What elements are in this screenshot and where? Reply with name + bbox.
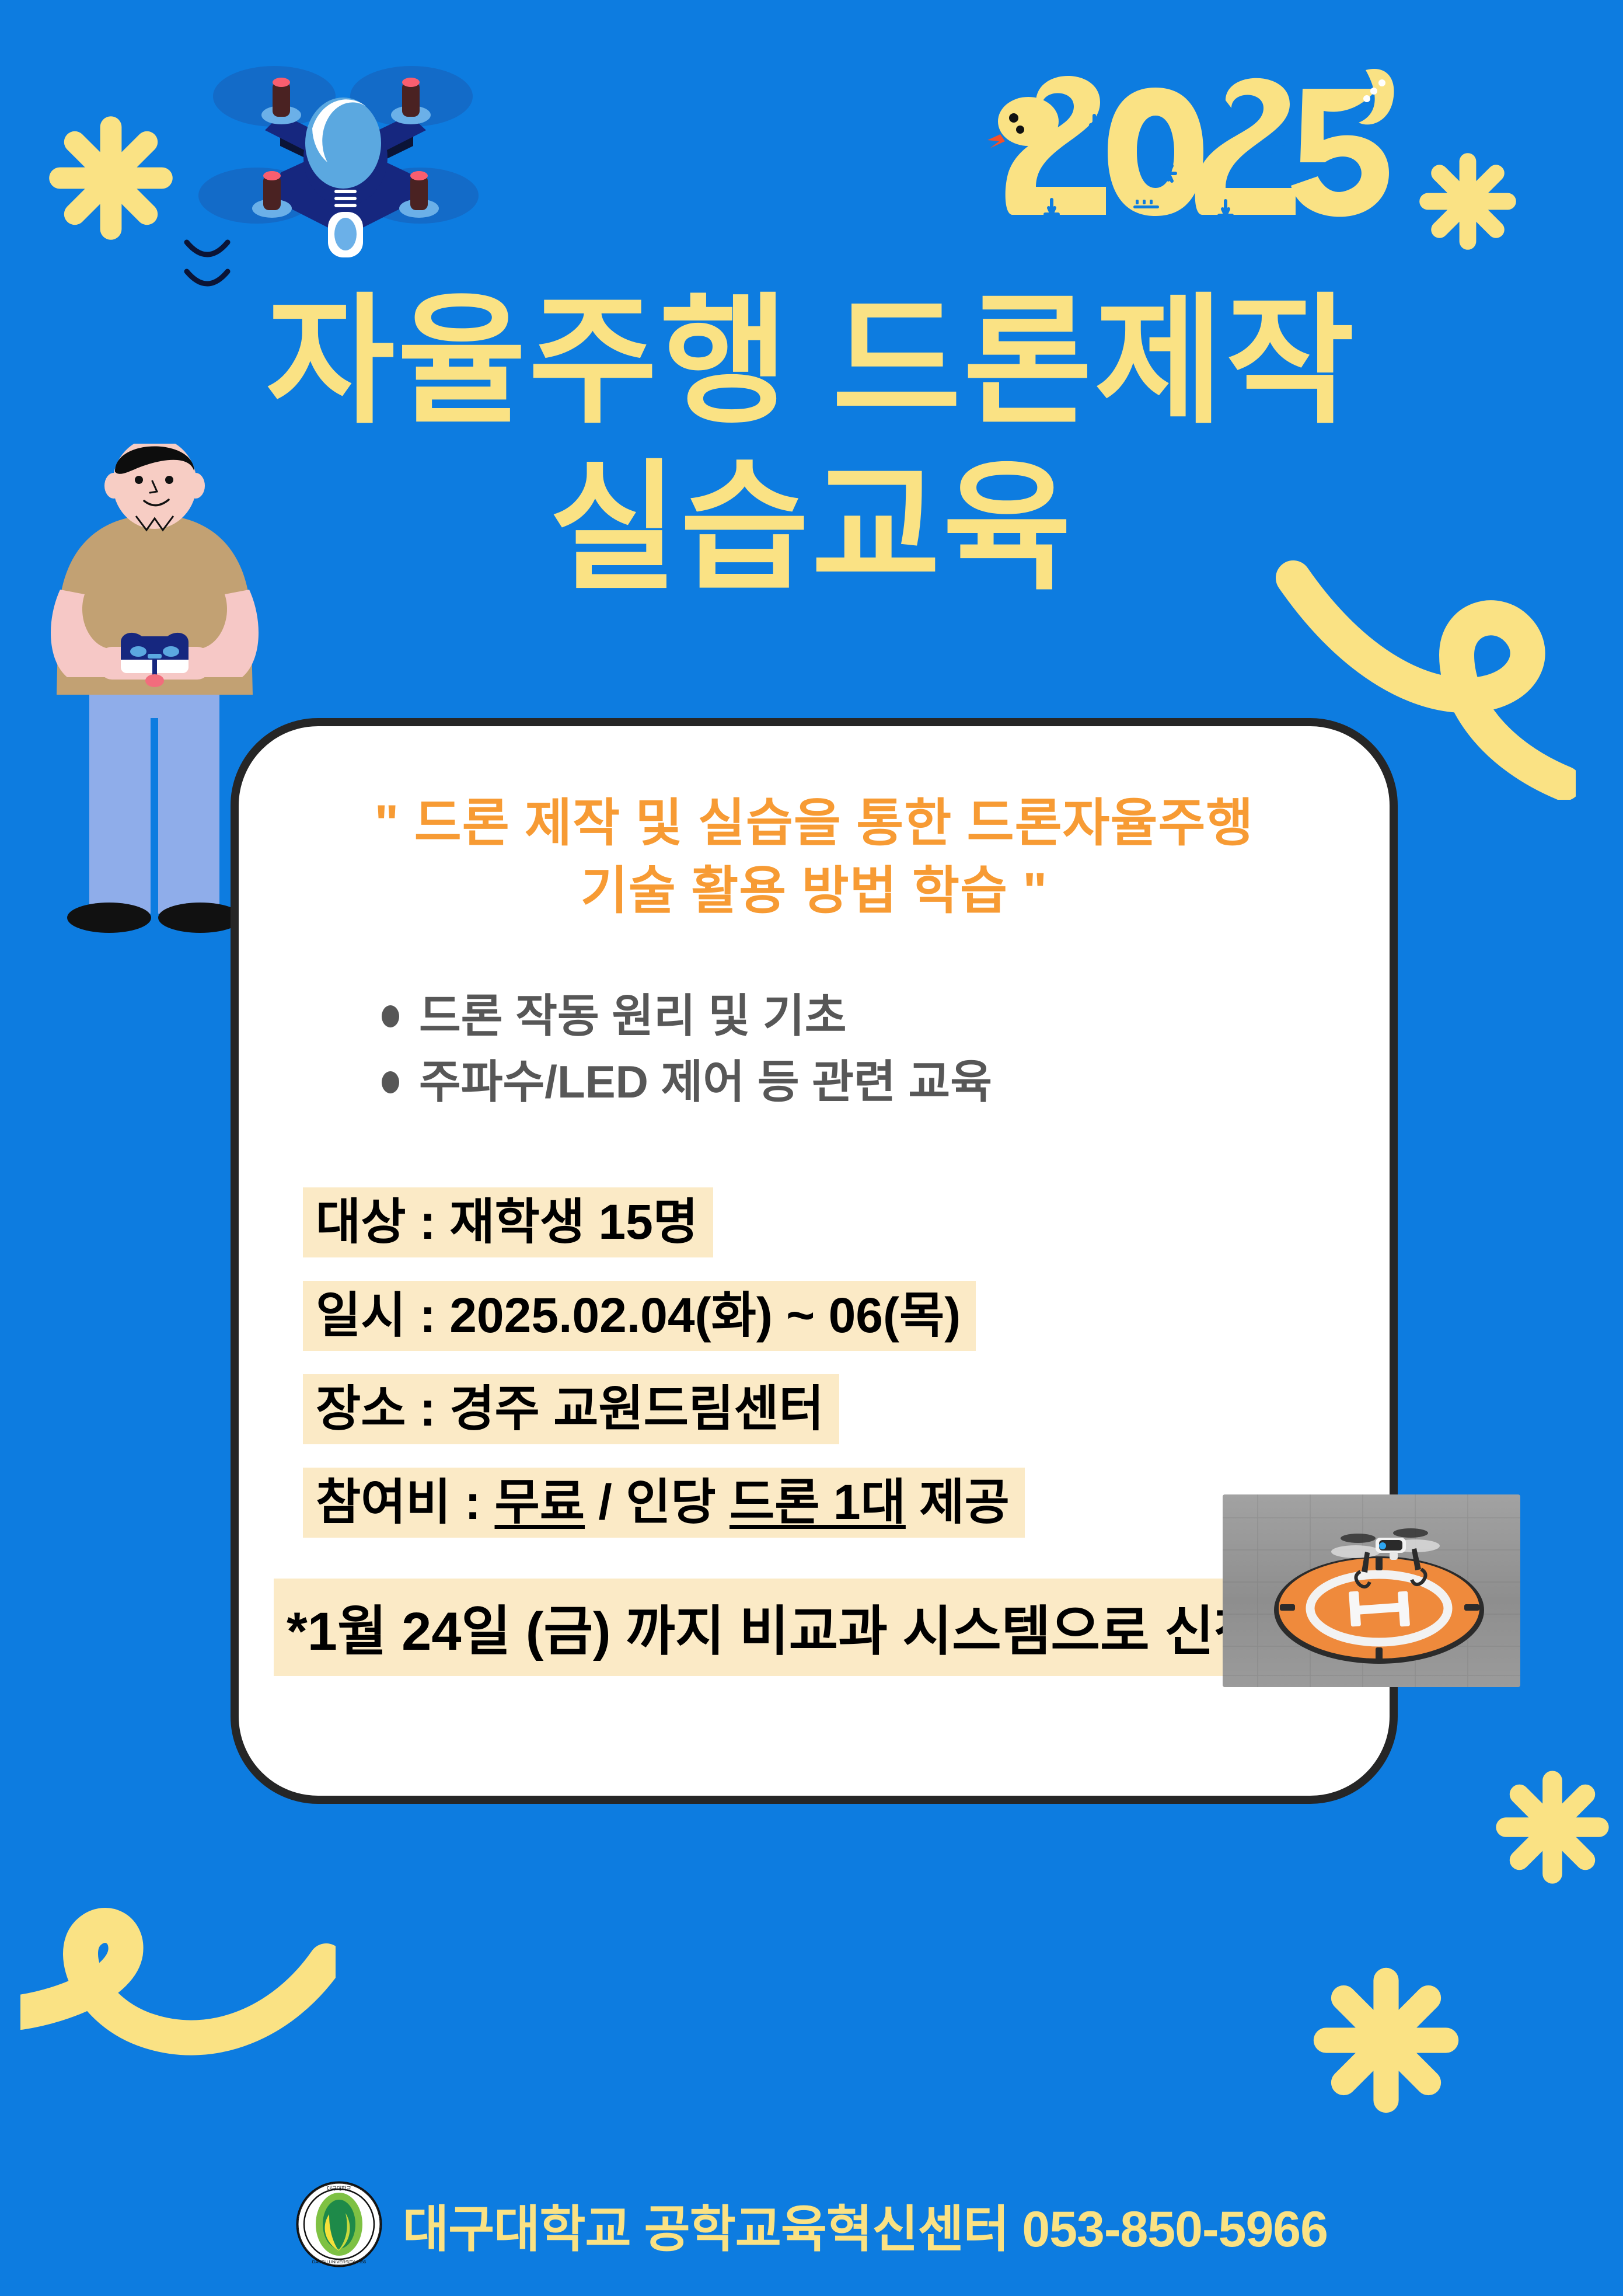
- program-quote: " 드론 제작 및 실습을 통한 드론자율주행 기술 활용 방법 학습 ": [239, 789, 1390, 925]
- program-info-list: 대상 : 재학생 15명 일시 : 2025.02.04(화) ~ 06(목) …: [239, 1187, 1390, 1676]
- title-line-2: 실습교육: [0, 452, 1623, 604]
- asterisk-icon-top-right: [1415, 146, 1520, 257]
- fee-underline-free: 무료: [495, 1475, 585, 1529]
- quote-line-1: " 드론 제작 및 실습을 통한 드론자율주행: [239, 789, 1390, 857]
- bullet-label-2: 주파수/LED 제어 등 관련 교육: [419, 1049, 992, 1115]
- seal-bottom-text: DAEGU UNIVERSITY 1956: [312, 2259, 366, 2264]
- info-row-date: 일시 : 2025.02.04(화) ~ 06(목): [239, 1281, 1390, 1351]
- curriculum-bullet-list: 드론 작동 원리 및 기초 주파수/LED 제어 등 관련 교육: [382, 983, 1257, 1115]
- seal-top-text: 대구대학교: [327, 2186, 351, 2192]
- info-target-text: 대상 : 재학생 15명: [303, 1187, 713, 1257]
- bullet-dot-icon: [382, 1005, 399, 1027]
- info-row-target: 대상 : 재학생 15명: [239, 1187, 1390, 1257]
- quote-line-2: 기술 활용 방법 학습 ": [239, 857, 1390, 925]
- fee-middle: / 인당: [585, 1475, 730, 1529]
- helipad-photo-image: [1223, 1494, 1520, 1687]
- bullet-label-1: 드론 작동 원리 및 기초: [419, 983, 847, 1049]
- fee-prefix: 참여비 :: [316, 1475, 495, 1529]
- notice-text: *1월 24일 (금) 까지 비교과 시스템으로 신청: [274, 1579, 1279, 1676]
- drone-icon: [193, 26, 496, 271]
- footer: 대구대학교 DAEGU UNIVERSITY 1956 대구대학교 공학교육혁신…: [0, 2180, 1623, 2268]
- asterisk-icon-bottom-right: [1307, 1959, 1465, 2122]
- info-fee-text: 참여비 : 무료 / 인당 드론 1대 제공: [303, 1468, 1025, 1538]
- fee-suffix: 제공: [906, 1475, 1010, 1529]
- snake-2025-icon: [980, 53, 1401, 228]
- bullet-dot-icon: [382, 1071, 399, 1093]
- list-item: 드론 작동 원리 및 기초: [382, 983, 1257, 1049]
- drone-illustration: [193, 26, 496, 271]
- asterisk-icon-top-left: [44, 108, 178, 248]
- list-item: 주파수/LED 제어 등 관련 교육: [382, 1049, 1257, 1115]
- swirl-decoration-bottom-left: [20, 1900, 336, 2105]
- title-line-1: 자율주행 드론제작: [0, 286, 1623, 437]
- application-notice: *1월 24일 (금) 까지 비교과 시스템으로 신청: [239, 1579, 1390, 1676]
- info-location-text: 장소 : 경주 교원드림센터: [303, 1374, 839, 1444]
- info-date-text: 일시 : 2025.02.04(화) ~ 06(목): [303, 1281, 976, 1351]
- poster-title: 자율주행 드론제작 실습교육: [0, 286, 1623, 604]
- info-row-fee: 참여비 : 무료 / 인당 드론 1대 제공: [239, 1468, 1390, 1538]
- fee-underline-drone: 드론 1대: [730, 1475, 906, 1529]
- footer-contact-text: 대구대학교 공학교육혁신센터 053-850-5966: [403, 2188, 1328, 2261]
- drone-helipad-photo: [1223, 1494, 1520, 1687]
- info-row-location: 장소 : 경주 교원드림센터: [239, 1374, 1390, 1444]
- year-2025-snake: [980, 53, 1401, 228]
- poster-canvas: 자율주행 드론제작 실습교육 " 드론 제작 및 실습을 통한 드론자율주행 기…: [0, 0, 1623, 2296]
- asterisk-icon-mid-right: [1491, 1763, 1614, 1891]
- daegu-university-seal-logo-icon: 대구대학교 DAEGU UNIVERSITY 1956: [295, 2180, 383, 2268]
